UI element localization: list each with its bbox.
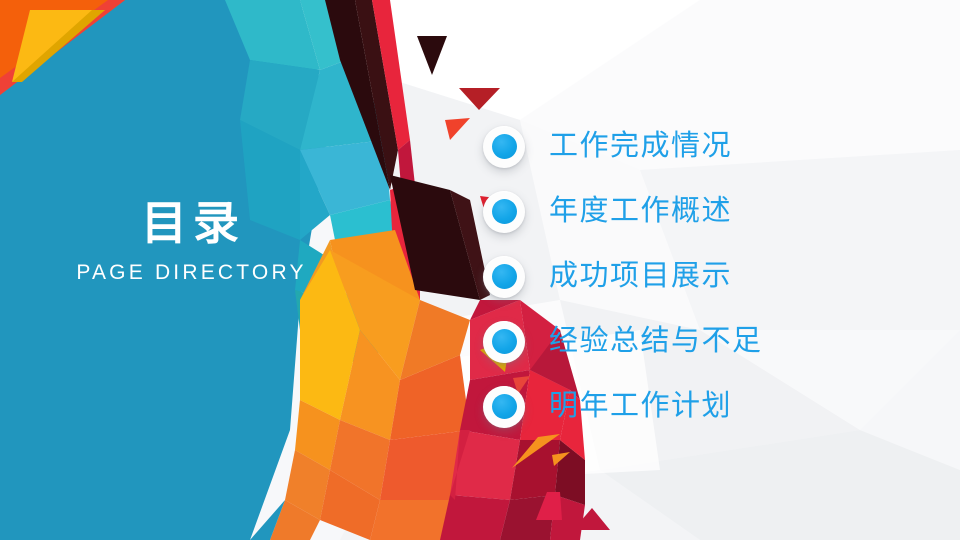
triangle-dark-maroon-top [417,36,447,75]
bullet-dot-icon [483,191,525,233]
menu-item-label: 年度工作概述 [549,197,732,226]
bullet-dot-icon [483,126,525,168]
menu-item-3[interactable]: 成功项目展示 [483,244,953,309]
menu-item-label: 成功项目展示 [549,262,732,291]
menu-item-1[interactable]: 工作完成情况 [483,114,953,179]
triangle-red-orange-top [445,118,470,140]
bullet-dot-icon [483,256,525,298]
bullet-dot-icon [483,386,525,428]
menu-item-label: 经验总结与不足 [549,327,763,356]
menu-item-label: 工作完成情况 [549,132,732,161]
bullet-dot-icon [483,321,525,363]
slide-page-directory: 目录 PAGE DIRECTORY 工作完成情况 年度工作概述 成功项目展示 经… [0,0,960,540]
triangle-dark-red-top [459,88,500,110]
directory-menu: 工作完成情况 年度工作概述 成功项目展示 经验总结与不足 明年工作计划 [483,114,953,439]
menu-item-label: 明年工作计划 [549,392,732,421]
menu-item-5[interactable]: 明年工作计划 [483,374,953,439]
menu-item-2[interactable]: 年度工作概述 [483,179,953,244]
menu-item-4[interactable]: 经验总结与不足 [483,309,953,374]
